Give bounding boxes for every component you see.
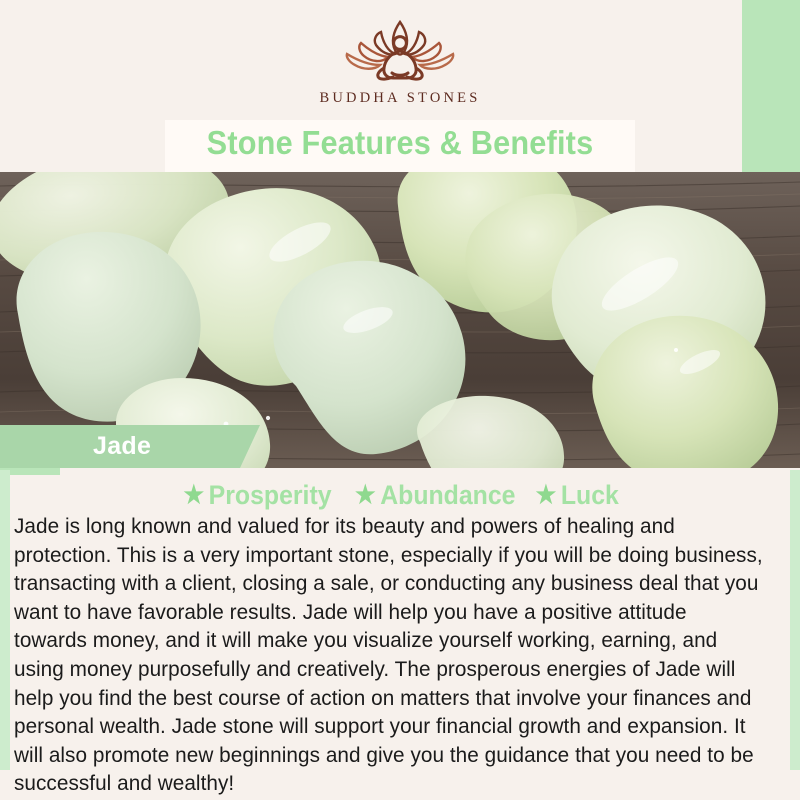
- page-title: Stone Features & Benefits: [28, 124, 772, 162]
- jade-stones-photo: [0, 172, 800, 468]
- benefit-label: Luck: [561, 480, 619, 511]
- benefit-label: Prosperity: [209, 480, 332, 511]
- accent-right-edge: [790, 470, 800, 770]
- brand-name: BUDDHA STONES: [320, 90, 481, 107]
- lotus-meditation-icon: [325, 16, 475, 86]
- accent-left-edge: [0, 470, 10, 770]
- benefits-row: ★ Prosperity ★ Abundance ★ Luck: [0, 478, 800, 512]
- stone-description: Jade is long known and valued for its be…: [14, 512, 763, 798]
- benefit-item: ★ Abundance: [355, 480, 515, 511]
- stone-name-label: Jade: [93, 432, 151, 461]
- benefit-item: ★ Luck: [536, 480, 619, 511]
- brand-logo: BUDDHA STONES: [0, 16, 800, 120]
- benefit-label: Abundance: [380, 480, 515, 511]
- benefit-item: ★ Prosperity: [184, 480, 332, 511]
- star-icon: ★: [536, 483, 557, 508]
- infographic-page: BUDDHA STONES Stone Features & Benefits: [0, 0, 800, 800]
- stone-name-band: Jade: [0, 425, 260, 468]
- star-icon: ★: [355, 483, 376, 508]
- star-icon: ★: [184, 483, 205, 508]
